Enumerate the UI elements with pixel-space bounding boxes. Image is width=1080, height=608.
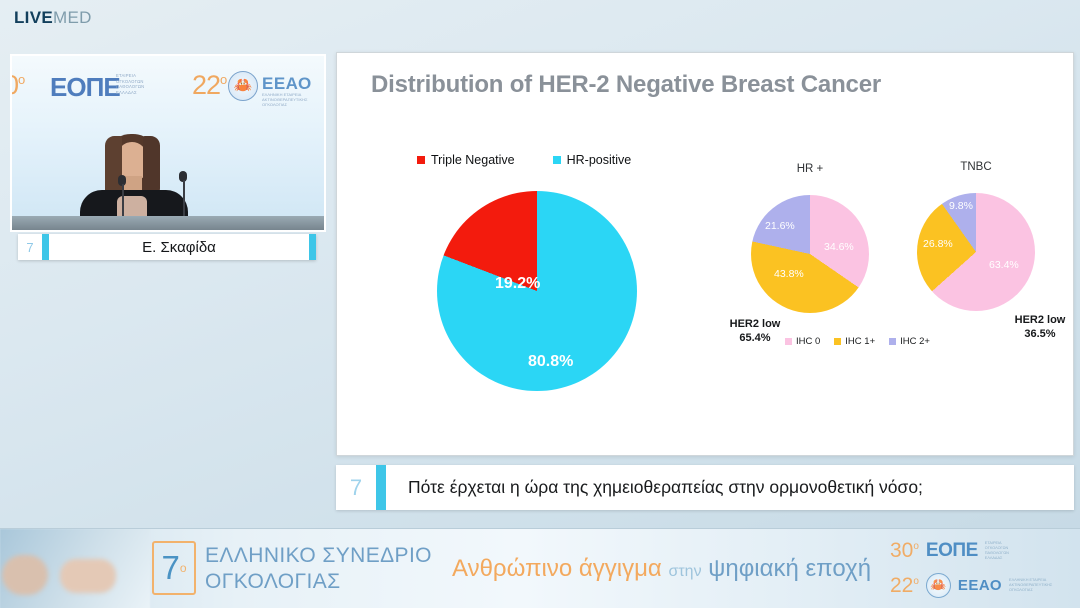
legend-swatch-triple-negative	[417, 156, 425, 164]
eeao-subtitle-overlay: ΕΛΛΗΝΙΚΗ ΕΤΑΙΡΕΙΑΑΚΤΙΝΟΘΕΡΑΠΕΥΤΙΚΗΣΟΓΚΟΛ…	[262, 92, 308, 107]
tnbc-pie-label-ihc1: 26.8%	[923, 238, 953, 250]
congress-footer-banner: 7ο ΕΛΛΗΝΙΚΟ ΣΥΝΕΔΡΙΟ ΟΓΚΟΛΟΓΙΑΣ Ανθρώπιν…	[0, 528, 1080, 608]
banner-eope-number: 30ο	[890, 539, 919, 563]
legend-label-ihc2: IHC 2+	[900, 336, 930, 347]
eope-wordmark-overlay: ΕΟΠΕ	[50, 72, 120, 103]
hr-pie-chart	[751, 195, 869, 313]
banner-eope-subtitle: ΕΤΑΙΡΕΙΑΟΓΚΟΛΟΓΩΝΠΑΘΟΛΟΓΩΝΕΛΛΑΔΑΣ	[985, 541, 1009, 560]
legend-item-hr-positive: HR-positive	[553, 153, 632, 167]
hr-pie-title: HR +	[751, 163, 869, 175]
caption-badge-icon: 7	[336, 465, 376, 510]
speaker-hair-right	[143, 136, 160, 198]
crab-emblem-icon-footer	[926, 573, 951, 598]
banner-logo-eeao: 22ο ΕΕΑΟ ΕΛΛΗΝΙΚΗ ΕΤΑΙΡΕΙΑΑΚΤΙΝΟΘΕΡΑΠΕΥΤ…	[890, 573, 1052, 598]
eope-subtitle-overlay: ΕΤΑΙΡΕΙΑΟΓΚΟΛΟΓΩΝΠΑΘΟΛΟΓΩΝΕΛΛΑΔΑΣ	[116, 73, 144, 95]
slide-title: Distribution of HER-2 Negative Breast Ca…	[371, 71, 881, 99]
legend-swatch-ihc1	[834, 338, 841, 345]
accent-divider-left	[42, 234, 49, 260]
ihc-legend: IHC 0 IHC 1+ IHC 2+	[785, 336, 930, 347]
hr-her2-low-value: 65.4%	[739, 332, 770, 344]
presentation-viewer: LIVEMED 0ο ΕΟΠΕ ΕΤΑΙΡΕΙΑΟΓΚΟΛΟΓΩΝΠΑΘΟΛΟΓ…	[0, 0, 1080, 608]
main-pie-legend: Triple Negative HR-positive	[417, 153, 631, 167]
banner-tagline-small: στην	[668, 563, 701, 580]
tnbc-pie-chart	[917, 193, 1035, 311]
banner-tagline-orange: Ανθρώπινο άγγιγμα	[452, 555, 662, 582]
banner-eeao-wordmark: ΕΕΑΟ	[958, 577, 1002, 594]
accent-divider-right	[309, 234, 316, 260]
crab-emblem-icon	[228, 71, 258, 101]
livemed-logo-med: MED	[53, 8, 92, 27]
banner-eeao-number: 22ο	[890, 574, 919, 598]
slide-canvas: Distribution of HER-2 Negative Breast Ca…	[336, 52, 1074, 456]
video-backdrop-logos: 0ο ΕΟΠΕ ΕΤΑΙΡΕΙΑΟΓΚΟΛΟΓΩΝΠΑΘΟΛΟΓΩΝΕΛΛΑΔΑ…	[12, 64, 324, 108]
session-title-bar: 7 Πότε έρχεται η ώρα της χημειοθεραπείας…	[336, 465, 1074, 510]
banner-partner-logos: 30ο ΕΟΠΕ ΕΤΑΙΡΕΙΑΟΓΚΟΛΟΓΩΝΠΑΘΟΛΟΓΩΝΕΛΛΑΔ…	[890, 537, 1072, 603]
hr-pie-label-ihc0: 34.6%	[824, 241, 854, 253]
legend-item-ihc1: IHC 1+	[834, 336, 875, 347]
banner-edition-degree: ο	[180, 561, 187, 575]
legend-label-triple-negative: Triple Negative	[431, 153, 515, 167]
session-title-text: Πότε έρχεται η ώρα της χημειοθεραπείας σ…	[386, 477, 923, 498]
tnbc-her2-low-annotation: HER2 low 36.5%	[985, 313, 1080, 341]
banner-edition-number: 7	[161, 549, 179, 587]
banner-title-line2: ΟΓΚΟΛΟΓΙΑΣ	[205, 570, 341, 593]
speaker-video-panel[interactable]: 0ο ΕΟΠΕ ΕΤΑΙΡΕΙΑΟΓΚΟΛΟΓΩΝΠΑΘΟΛΟΓΩΝΕΛΛΑΔΑ…	[10, 54, 326, 232]
caption-accent-divider	[376, 465, 386, 510]
hr-pie-label-ihc2: 21.6%	[765, 220, 795, 232]
eeao-wordmark-overlay: ΕΕΑΟ	[262, 74, 312, 94]
banner-edition-badge: 7ο	[152, 541, 196, 595]
legend-item-ihc0: IHC 0	[785, 336, 820, 347]
pie-label-hr-positive: 80.8%	[528, 353, 573, 371]
tnbc-her2-low-label: HER2 low	[1015, 314, 1066, 326]
banner-photo	[0, 529, 150, 608]
banner-tagline: Ανθρώπινο άγγιγμα στην ψηφιακή εποχή	[452, 555, 871, 583]
tnbc-pie-label-ihc2: 9.8%	[949, 200, 973, 212]
legend-label-ihc1: IHC 1+	[845, 336, 875, 347]
legend-swatch-ihc2	[889, 338, 896, 345]
tnbc-pie-label-ihc0: 63.4%	[989, 259, 1019, 271]
speaker-name-label: Ε. Σκαφίδα	[49, 239, 309, 256]
speaker-name-bar: 7 Ε. Σκαφίδα	[18, 234, 316, 260]
legend-swatch-ihc0	[785, 338, 792, 345]
hr-her2-low-label: HER2 low	[730, 318, 781, 330]
podium-desk	[12, 216, 324, 230]
livemed-logo-live: LIVE	[14, 8, 53, 27]
hr-pie-label-ihc1: 43.8%	[774, 268, 804, 280]
pie-label-triple-negative: 19.2%	[495, 275, 540, 293]
banner-eeao-subtitle: ΕΛΛΗΝΙΚΗ ΕΤΑΙΡΕΙΑΑΚΤΙΝΟΘΕΡΑΠΕΥΤΙΚΗΣΟΓΚΟΛ…	[1009, 578, 1052, 592]
legend-label-hr-positive: HR-positive	[567, 153, 632, 167]
eope-number-overlay: 0ο	[10, 70, 24, 101]
legend-item-triple-negative: Triple Negative	[417, 153, 515, 167]
tnbc-pie-title: TNBC	[917, 161, 1035, 173]
congress-badge-icon: 7	[18, 234, 42, 260]
banner-tagline-blue: ψηφιακή εποχή	[708, 555, 871, 582]
legend-item-ihc2: IHC 2+	[889, 336, 930, 347]
banner-title-line1: ΕΛΛΗΝΙΚΟ ΣΥΝΕΔΡΙΟ	[205, 544, 432, 567]
eeao-number-overlay: 22ο	[192, 70, 226, 101]
banner-congress-title: ΕΛΛΗΝΙΚΟ ΣΥΝΕΔΡΙΟ ΟΓΚΟΛΟΓΙΑΣ	[205, 543, 432, 595]
legend-label-ihc0: IHC 0	[796, 336, 820, 347]
tnbc-her2-low-value: 36.5%	[1024, 328, 1055, 340]
banner-eope-wordmark: ΕΟΠΕ	[926, 540, 978, 562]
livemed-logo: LIVEMED	[14, 8, 92, 28]
legend-swatch-hr-positive	[553, 156, 561, 164]
banner-logo-eope: 30ο ΕΟΠΕ ΕΤΑΙΡΕΙΑΟΓΚΟΛΟΓΩΝΠΑΘΟΛΟΓΩΝΕΛΛΑΔ…	[890, 539, 1009, 563]
